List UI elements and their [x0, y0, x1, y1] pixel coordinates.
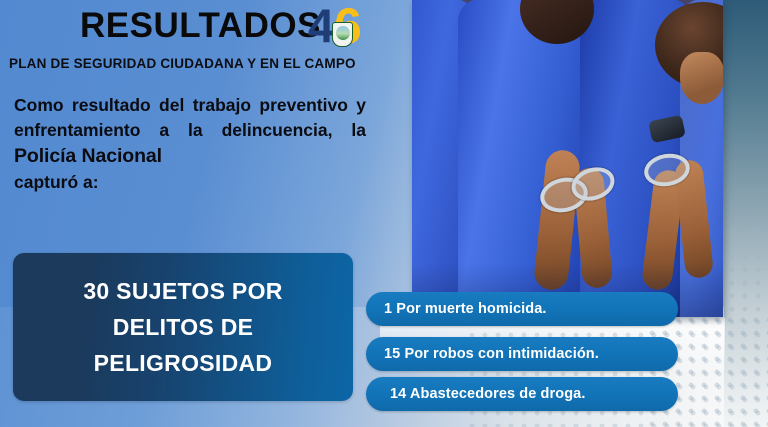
photo-scene	[412, 0, 723, 317]
breakdown-pill-label: 15 Por robos con intimidación.	[366, 346, 599, 362]
page-subtitle: PLAN DE SEGURIDAD CIUDADANA Y EN EL CAMP…	[9, 56, 356, 71]
detainees-photo	[412, 0, 723, 317]
logo-digit-4: 4	[308, 2, 334, 49]
intro-text-part1: Como resultado del trabajo preventivo y …	[14, 95, 366, 140]
anniversary-logo: 4 6	[308, 2, 370, 58]
breakdown-pill-label: 1 Por muerte homicida.	[366, 301, 547, 317]
highlight-line-2: DELITOS DE	[113, 316, 254, 339]
breakdown-pill-homicide: 1 Por muerte homicida.	[366, 292, 678, 326]
intro-paragraph: Como resultado del trabajo preventivo y …	[14, 93, 366, 195]
intro-emphasis: Policía Nacional	[14, 145, 162, 167]
slide-root: RESULTADOS PLAN DE SEGURIDAD CIUDADANA Y…	[0, 0, 768, 427]
highlight-line-1: 30 SUJETOS POR	[83, 280, 282, 303]
intro-text-part2: capturó a:	[14, 170, 366, 195]
highlight-box: 30 SUJETOS POR DELITOS DE PELIGROSIDAD	[13, 253, 353, 401]
highlight-line-3: PELIGROSIDAD	[94, 352, 273, 375]
breakdown-pill-drugs: 14 Abastecedores de droga.	[366, 377, 678, 411]
breakdown-pill-label: 14 Abastecedores de droga.	[366, 386, 585, 402]
seal-emblem-inner	[336, 26, 350, 40]
breakdown-pill-robbery: 15 Por robos con intimidación.	[366, 337, 678, 371]
page-title: RESULTADOS	[80, 8, 321, 43]
background-halftone-dots-right	[648, 316, 768, 427]
face-shape	[680, 52, 723, 104]
seal-emblem-icon	[332, 22, 353, 47]
